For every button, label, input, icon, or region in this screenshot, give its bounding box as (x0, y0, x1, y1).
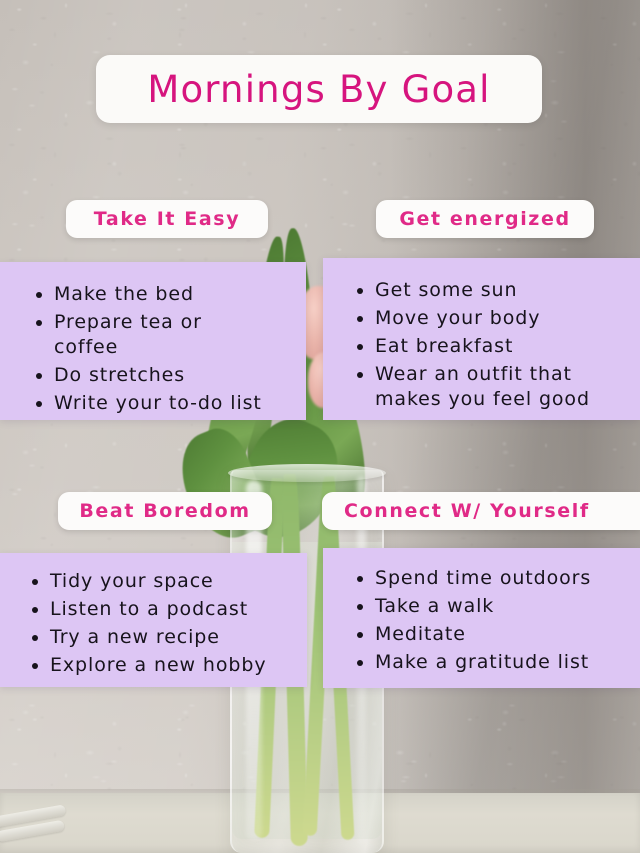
vase-rim (228, 464, 386, 482)
list-item: Make the bed (34, 282, 296, 307)
section-header-connect-w-yourself: Connect W/ Yourself (322, 492, 640, 530)
list-card-beat-boredom: Tidy your space Listen to a podcast Try … (0, 553, 307, 687)
checklist: Tidy your space Listen to a podcast Try … (30, 569, 299, 678)
list-item: Eat breakfast (355, 334, 632, 359)
list-item: Tidy your space (30, 569, 299, 594)
checklist: Make the bed Prepare tea or coffee Do st… (34, 282, 296, 416)
list-item: Get some sun (355, 278, 632, 303)
checklist: Get some sun Move your body Eat breakfas… (355, 278, 632, 412)
list-card-get-energized: Get some sun Move your body Eat breakfas… (323, 258, 640, 420)
list-item-continuation: coffee (34, 335, 296, 360)
wall-shadow (390, 0, 640, 853)
list-card-connect-w-yourself: Spend time outdoors Take a walk Meditate… (323, 548, 640, 688)
poster-canvas: Mornings By Goal Take It Easy Get energi… (0, 0, 640, 853)
list-item: Try a new recipe (30, 625, 299, 650)
section-header-label: Get energized (399, 210, 570, 229)
list-item: Explore a new hobby (30, 653, 299, 678)
list-item-continuation: makes you feel good (355, 387, 632, 412)
poster-title-pill: Mornings By Goal (96, 55, 542, 123)
list-item: Prepare tea or (34, 310, 296, 335)
section-header-get-energized: Get energized (376, 200, 594, 238)
list-item: Meditate (355, 622, 632, 647)
list-item: Do stretches (34, 363, 296, 388)
list-card-take-it-easy: Make the bed Prepare tea or coffee Do st… (0, 262, 306, 420)
section-header-label: Take It Easy (94, 210, 240, 229)
list-item: Move your body (355, 306, 632, 331)
checklist: Spend time outdoors Take a walk Meditate… (355, 566, 632, 675)
list-item: Spend time outdoors (355, 566, 632, 591)
section-header-label: Beat Boredom (79, 502, 250, 521)
list-item: Write your to-do list (34, 391, 296, 416)
list-item: Take a walk (355, 594, 632, 619)
list-item: Make a gratitude list (355, 650, 632, 675)
section-header-take-it-easy: Take It Easy (66, 200, 268, 238)
list-item: Wear an outfit that (355, 362, 632, 387)
list-item: Listen to a podcast (30, 597, 299, 622)
page-title: Mornings By Goal (147, 71, 490, 108)
section-header-beat-boredom: Beat Boredom (58, 492, 272, 530)
section-header-label: Connect W/ Yourself (344, 502, 590, 521)
